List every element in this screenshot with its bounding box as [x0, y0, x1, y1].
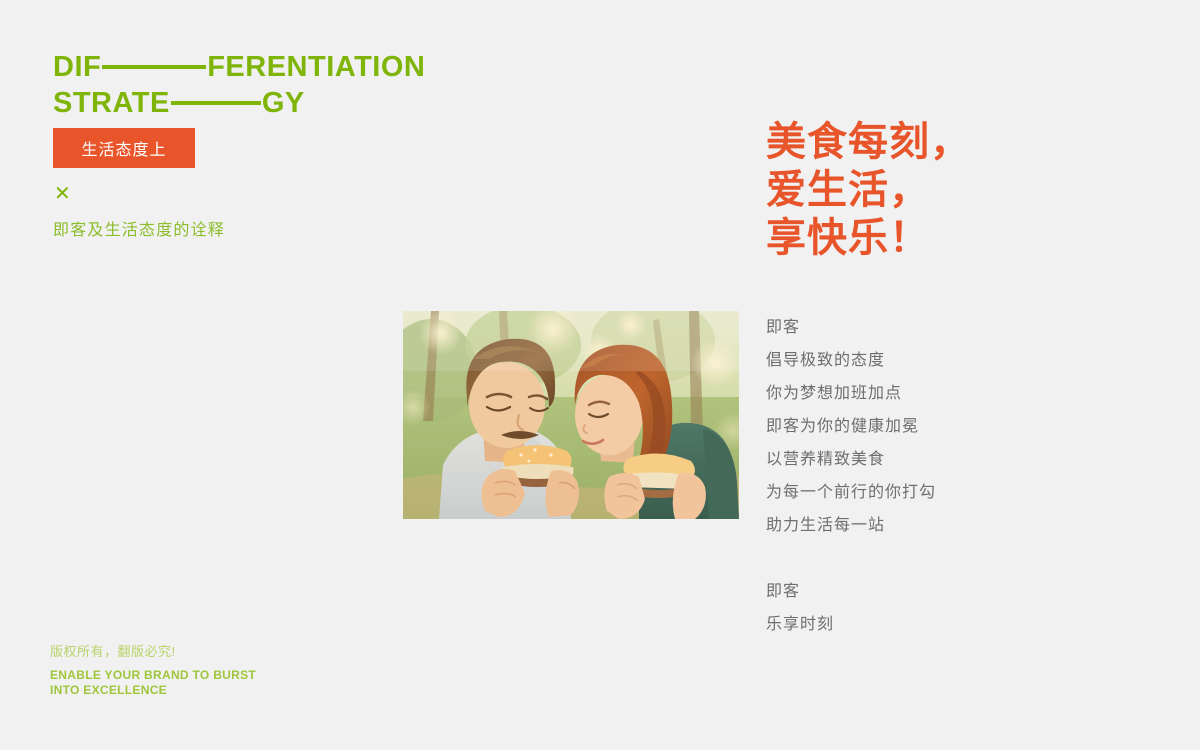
headline-line-2: 爱生活， [766, 166, 971, 214]
brand-line-differentiation: DIF FERENTIATION [53, 50, 473, 84]
slide-canvas: DIF FERENTIATION STRATE GY 生活态度上 ✕ 即客及生活… [0, 0, 1200, 750]
footer: 版权所有，翻版必究! ENABLE YOUR BRAND TO BURST IN… [50, 645, 256, 698]
body-paragraph-1: 即客 倡导极致的态度 你为梦想加班加点 即客为你的健康加冕 以营养精致美食 为每… [766, 311, 936, 542]
lifestyle-tag-button[interactable]: 生活态度上 [53, 128, 195, 168]
footer-copyright: 版权所有，翻版必究! [50, 645, 256, 658]
body-line: 倡导极致的态度 [766, 344, 936, 377]
brand-line-strategy: STRATE GY [53, 86, 473, 120]
body-line: 即客 [766, 575, 936, 608]
body-line: 你为梦想加班加点 [766, 377, 936, 410]
footer-tagline-line-2: INTO EXCELLENCE [50, 683, 256, 698]
photo-artwork [403, 311, 739, 519]
body-paragraph-2: 即客 乐享时刻 [766, 575, 936, 641]
brand-text-dif: DIF [53, 50, 101, 84]
brand-text-strate: STRATE [53, 86, 170, 120]
lifestyle-photo [403, 311, 739, 519]
brand-text-gy: GY [262, 86, 305, 120]
body-line: 以营养精致美食 [766, 443, 936, 476]
body-line: 助力生活每一站 [766, 509, 936, 542]
body-copy: 即客 倡导极致的态度 你为梦想加班加点 即客为你的健康加冕 以营养精致美食 为每… [766, 311, 936, 641]
body-line: 为每一个前行的你打勾 [766, 476, 936, 509]
brand-text-ferentiation: FERENTIATION [207, 50, 425, 84]
close-x-icon: ✕ [54, 184, 71, 204]
brand-rule-icon [102, 65, 206, 69]
footer-tagline: ENABLE YOUR BRAND TO BURST INTO EXCELLEN… [50, 668, 256, 698]
body-line: 即客 [766, 311, 936, 344]
body-line: 乐享时刻 [766, 608, 936, 641]
section-caption: 即客及生活态度的诠释 [53, 220, 225, 242]
brand-lockup: DIF FERENTIATION STRATE GY [53, 50, 473, 120]
headline-line-3: 享快乐！ [766, 214, 971, 262]
footer-tagline-line-1: ENABLE YOUR BRAND TO BURST [50, 668, 256, 683]
headline-line-1: 美食每刻， [766, 118, 971, 166]
page-headline: 美食每刻， 爱生活， 享快乐！ [766, 118, 971, 262]
brand-rule-icon [171, 101, 261, 105]
body-line: 即客为你的健康加冕 [766, 410, 936, 443]
